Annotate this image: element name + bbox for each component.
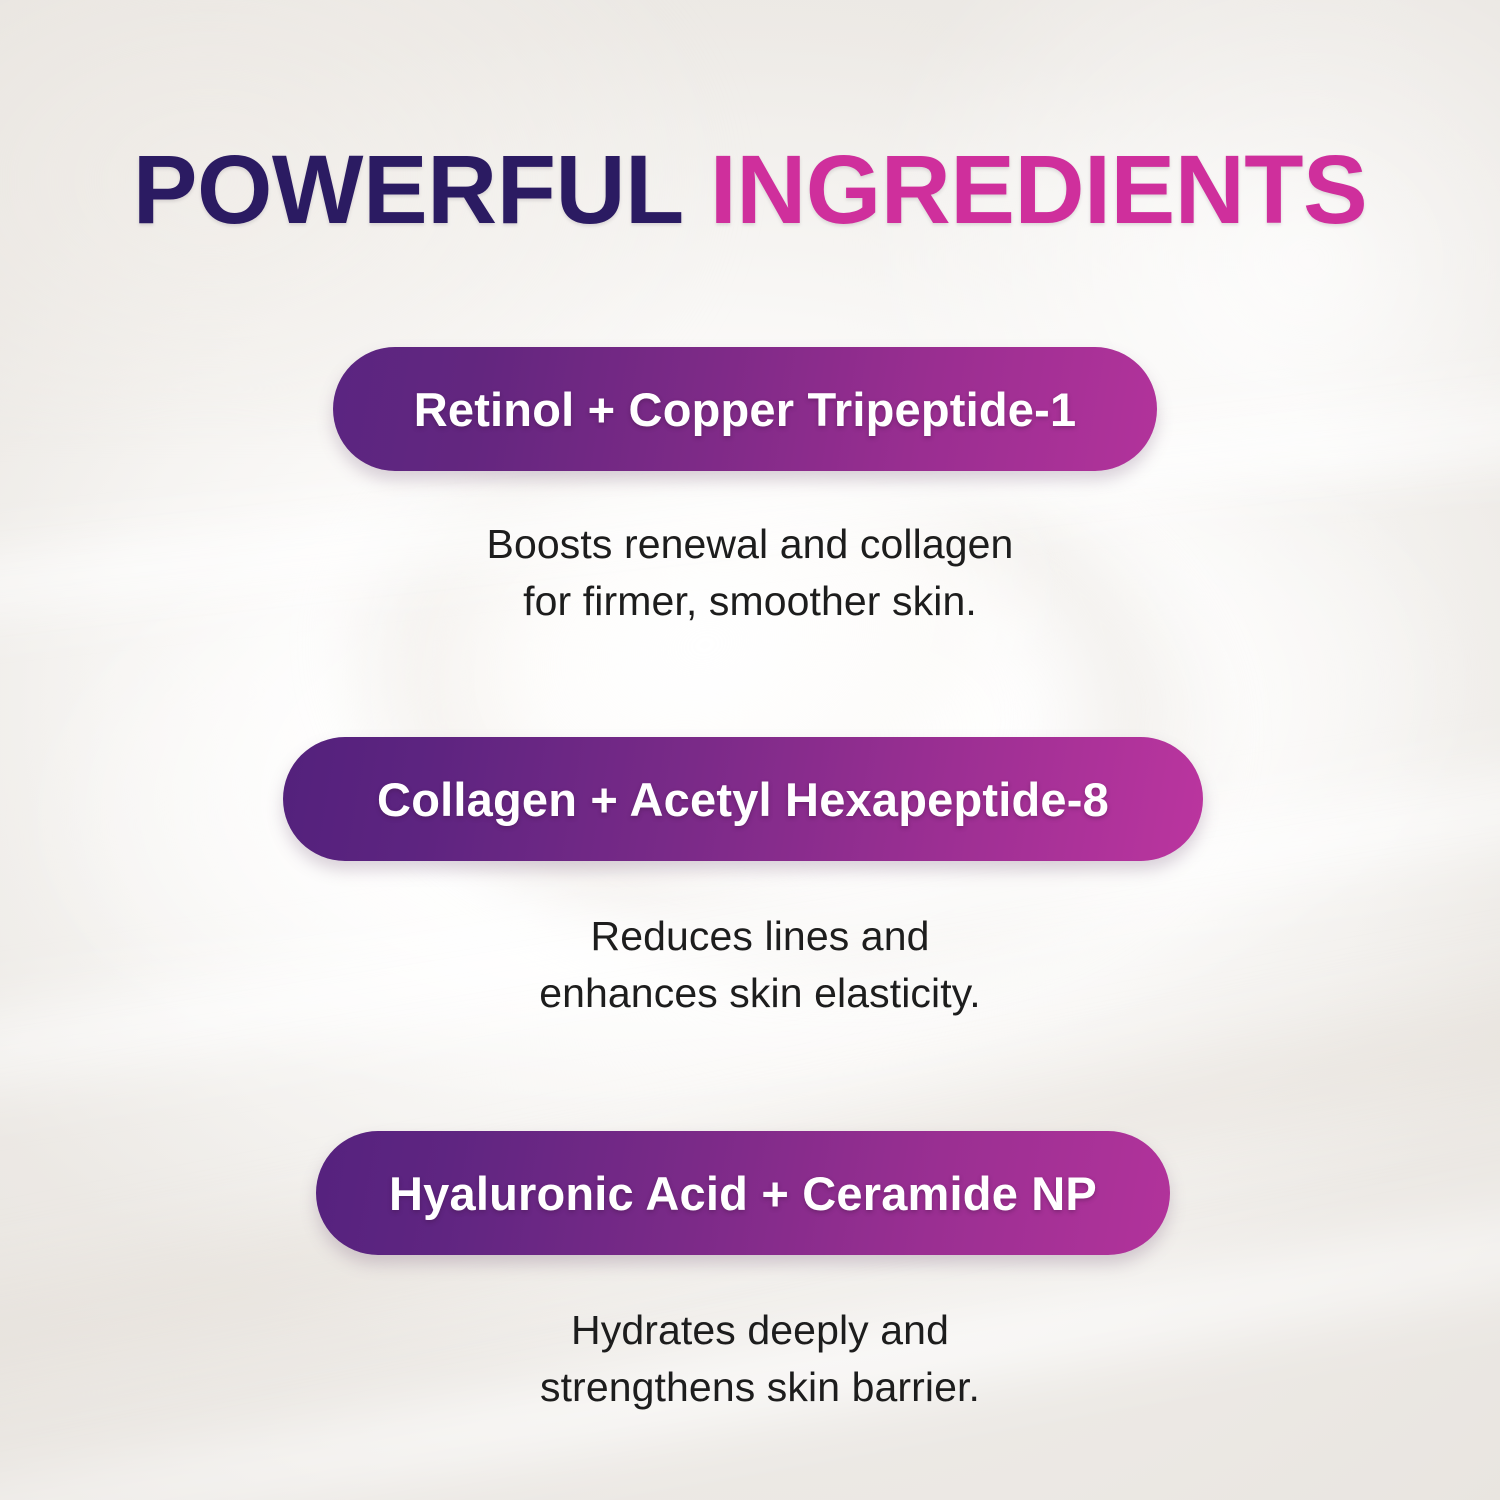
- ingredient-description-3-line-1: Hydrates deeply and: [260, 1302, 1260, 1359]
- ingredient-pill-retinol-copper-tripeptide[interactable]: Retinol + Copper Tripeptide-1: [333, 347, 1157, 471]
- ingredient-description-1-line-2: for firmer, smoother skin.: [250, 573, 1250, 630]
- ingredient-pill-collagen-acetyl-hexapeptide[interactable]: Collagen + Acetyl Hexapeptide-8: [283, 737, 1203, 861]
- ingredient-description-2-line-1: Reduces lines and: [260, 908, 1260, 965]
- ingredient-pill-hyaluronic-acid-ceramide-np[interactable]: Hyaluronic Acid + Ceramide NP: [316, 1131, 1170, 1255]
- ingredient-description-3-line-2: strengthens skin barrier.: [260, 1359, 1260, 1416]
- page-title: POWERFULINGREDIENTS: [0, 139, 1500, 241]
- ingredient-description-1-line-1: Boosts renewal and collagen: [250, 516, 1250, 573]
- page-title-accent: INGREDIENTS: [710, 135, 1367, 244]
- ingredient-title-2: Collagen + Acetyl Hexapeptide-8: [377, 772, 1109, 827]
- ingredient-description-3: Hydrates deeply and strengthens skin bar…: [260, 1302, 1260, 1415]
- ingredient-title-3: Hyaluronic Acid + Ceramide NP: [389, 1166, 1097, 1221]
- ingredients-infographic: POWERFULINGREDIENTS Retinol + Copper Tri…: [0, 0, 1500, 1500]
- ingredient-description-1: Boosts renewal and collagen for firmer, …: [250, 516, 1250, 629]
- ingredient-description-2: Reduces lines and enhances skin elastici…: [260, 908, 1260, 1021]
- ingredient-description-2-line-2: enhances skin elasticity.: [260, 965, 1260, 1022]
- ingredient-title-1: Retinol + Copper Tripeptide-1: [414, 382, 1077, 437]
- page-title-primary: POWERFUL: [133, 135, 684, 244]
